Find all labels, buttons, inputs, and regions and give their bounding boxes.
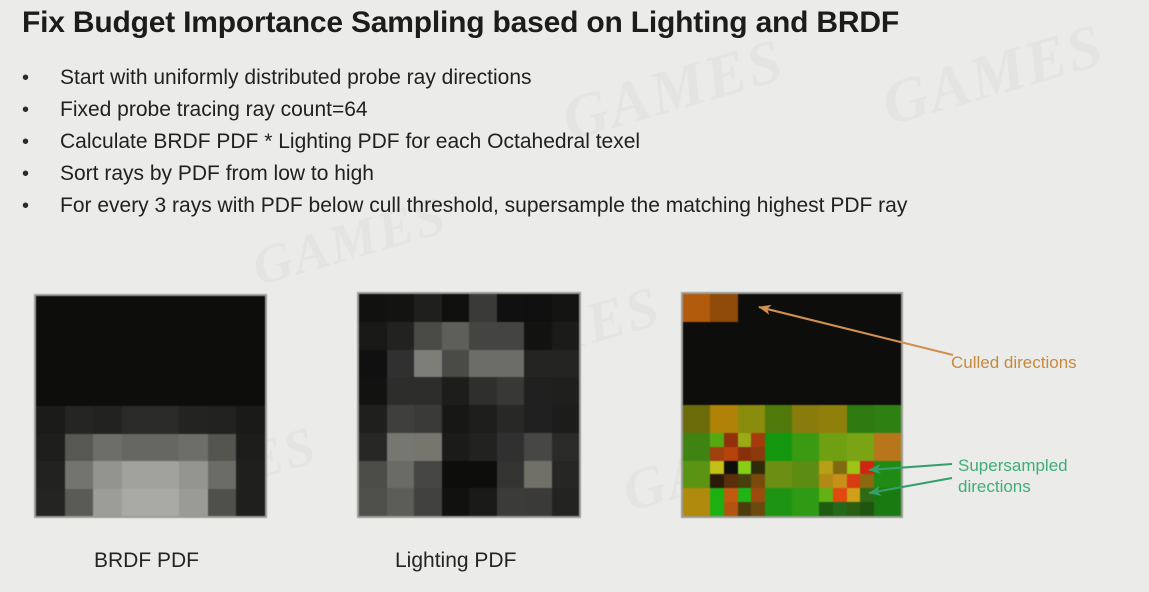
sub-texel [819,488,833,502]
texel [819,377,846,405]
sub-texel [724,474,738,488]
texel [179,324,208,352]
texel [93,296,122,324]
sub-texel [819,474,833,488]
texel [387,488,415,516]
texel [792,322,819,350]
texel [414,461,442,489]
texel [122,379,151,407]
texel [497,350,525,378]
sub-texel [710,488,724,502]
texel [710,405,737,433]
texel [179,406,208,434]
texel [236,489,265,517]
texel [874,322,901,350]
texel [524,294,552,322]
texel [414,433,442,461]
texel [65,324,94,352]
bullet-marker-icon: • [22,63,60,93]
bullet-list: •Start with uniformly distributed probe … [22,63,1142,223]
texel [469,294,497,322]
bullet-item: •Calculate BRDF PDF * Lighting PDF for e… [22,127,1142,159]
texel [359,405,387,433]
texel [65,489,94,517]
sub-texel [860,461,874,475]
texel [552,294,580,322]
texel [469,377,497,405]
texel [792,294,819,322]
texel [442,405,470,433]
texel [874,461,901,489]
texel [442,488,470,516]
sub-texel [738,433,752,447]
texel [469,405,497,433]
texel [442,461,470,489]
sub-texel [833,474,847,488]
bullet-marker-icon: • [22,159,60,189]
texel [36,489,65,517]
texel [819,294,846,322]
texel [524,405,552,433]
texel [765,294,792,322]
texel [122,324,151,352]
texel [208,296,237,324]
texel [874,433,901,461]
texel [65,461,94,489]
texel [236,296,265,324]
bullet-marker-icon: • [22,95,60,125]
supersampled-texel [710,433,737,461]
texel [151,489,180,517]
texel [414,294,442,322]
texel [93,461,122,489]
texel [387,461,415,489]
sub-texel [724,502,738,516]
texel [819,350,846,378]
sub-texel [738,488,752,502]
texel [122,296,151,324]
texel [847,322,874,350]
texel [93,351,122,379]
supersampled-texel [710,488,737,516]
brdf-pdf-texture [34,294,267,518]
sub-texel [710,447,724,461]
sub-texel [738,461,752,475]
supersampled-texel [819,488,846,516]
texel [387,377,415,405]
texel [36,406,65,434]
texel [65,379,94,407]
texel [151,296,180,324]
texel [552,433,580,461]
texel [236,406,265,434]
bullet-item: •Sort rays by PDF from low to high [22,159,1142,191]
supersampled-texel [847,461,874,489]
texel [236,324,265,352]
texel [683,350,710,378]
texel [208,324,237,352]
texel [93,406,122,434]
lighting-pdf-texture [357,292,581,518]
texel [738,350,765,378]
supersampled-directions-label: Supersampled directions [958,455,1068,497]
sub-texel [847,488,861,502]
texel [524,322,552,350]
sub-texel [751,433,765,447]
sub-texel [860,502,874,516]
texel [792,433,819,461]
texel [208,461,237,489]
texel [469,488,497,516]
texel [387,433,415,461]
texel [874,350,901,378]
texel [847,405,874,433]
texel [36,296,65,324]
texel [469,322,497,350]
texel [552,488,580,516]
texel [151,324,180,352]
texel [387,294,415,322]
texel [683,461,710,489]
texel [387,405,415,433]
texel [738,322,765,350]
texel [524,350,552,378]
texel [442,350,470,378]
sub-texel [860,474,874,488]
texel [792,405,819,433]
texel [497,377,525,405]
sub-texel [724,461,738,475]
texel [442,294,470,322]
texel [414,350,442,378]
texel [36,379,65,407]
texel [122,406,151,434]
texel [469,350,497,378]
texel [765,350,792,378]
texel [387,350,415,378]
sub-texel [738,502,752,516]
sub-texel [710,474,724,488]
texel [847,350,874,378]
texel [497,405,525,433]
texel [765,433,792,461]
texel [874,488,901,516]
texel [236,379,265,407]
texel [122,489,151,517]
texel [93,379,122,407]
texel [497,294,525,322]
sub-texel [724,447,738,461]
texel [683,405,710,433]
culled-directions-label: Culled directions [951,352,1077,373]
texel [552,377,580,405]
texel [442,433,470,461]
texel [93,489,122,517]
sub-texel [724,433,738,447]
texel [524,377,552,405]
texel [414,377,442,405]
texel [497,433,525,461]
texel [179,461,208,489]
texel [359,322,387,350]
sub-texel [751,488,765,502]
texel [151,351,180,379]
texel [414,488,442,516]
bullet-item-text: Start with uniformly distributed probe r… [60,63,532,93]
texel [65,351,94,379]
bullet-item: •For every 3 rays with PDF below cull th… [22,191,1142,223]
texel [683,488,710,516]
texel [524,461,552,489]
texel [552,350,580,378]
texel [765,322,792,350]
texel [236,461,265,489]
texel [792,461,819,489]
texel [738,294,765,322]
sub-texel [751,461,765,475]
bullet-item-text: Calculate BRDF PDF * Lighting PDF for ea… [60,127,640,157]
supersampled-texel [738,433,765,461]
sub-texel [710,433,724,447]
texel [65,406,94,434]
texel [524,488,552,516]
texel [469,461,497,489]
texel [122,461,151,489]
sub-texel [710,461,724,475]
texel [359,350,387,378]
texel [497,322,525,350]
texel [179,434,208,462]
brdf-pdf-caption: BRDF PDF [94,549,199,573]
texel [122,351,151,379]
texel [847,433,874,461]
texel [208,379,237,407]
sub-texel [860,488,874,502]
sub-texel [738,447,752,461]
bullet-item-text: Sort rays by PDF from low to high [60,159,374,189]
texel [792,377,819,405]
sub-texel [710,502,724,516]
slide-title: Fix Budget Importance Sampling based on … [22,6,899,40]
texel [236,434,265,462]
sub-texel [738,474,752,488]
texel [765,377,792,405]
texel [552,405,580,433]
texel [179,379,208,407]
texel [179,489,208,517]
texel [847,377,874,405]
texel [122,434,151,462]
sub-texel [751,474,765,488]
texel [359,433,387,461]
texel [36,461,65,489]
texel [65,296,94,324]
texel [552,461,580,489]
texel [208,351,237,379]
texel [442,377,470,405]
texel [151,461,180,489]
texel [36,434,65,462]
texel [151,379,180,407]
result-sampling-texture [681,292,903,518]
texel [683,322,710,350]
texel [819,433,846,461]
supersampled-texel [738,488,765,516]
texel [552,322,580,350]
texel [765,488,792,516]
texel [874,377,901,405]
texel [93,434,122,462]
texel [359,461,387,489]
texel [442,322,470,350]
sub-texel [724,488,738,502]
texel [414,322,442,350]
bullet-marker-icon: • [22,127,60,157]
sub-texel [751,502,765,516]
texel [874,294,901,322]
texel [524,433,552,461]
texel [151,406,180,434]
bullet-item: •Fixed probe tracing ray count=64 [22,95,1142,127]
texel [414,405,442,433]
bullet-marker-icon: • [22,191,60,221]
supersampled-texel [847,488,874,516]
texel [683,433,710,461]
sub-texel [819,502,833,516]
texel [208,489,237,517]
texel [208,406,237,434]
texel [710,294,737,322]
texel [738,377,765,405]
texel [179,296,208,324]
texel [179,351,208,379]
texel [93,324,122,352]
texel [36,351,65,379]
sub-texel [847,461,861,475]
texel [819,405,846,433]
sub-texel [833,461,847,475]
texel [765,405,792,433]
texel [469,433,497,461]
texel [359,488,387,516]
texel [151,434,180,462]
texel [710,350,737,378]
texel [710,377,737,405]
texel [359,377,387,405]
texel [683,377,710,405]
sub-texel [819,461,833,475]
texel [36,324,65,352]
lighting-pdf-caption: Lighting PDF [395,549,516,573]
sub-texel [751,447,765,461]
texel [765,461,792,489]
texel [792,488,819,516]
bullet-item-text: Fixed probe tracing ray count=64 [60,95,368,125]
texel [497,461,525,489]
bullet-item-text: For every 3 rays with PDF below cull thr… [60,191,907,221]
sub-texel [833,502,847,516]
texel [710,322,737,350]
sub-texel [847,502,861,516]
texel [208,434,237,462]
bullet-item: •Start with uniformly distributed probe … [22,63,1142,95]
sub-texel [847,474,861,488]
texel [236,351,265,379]
supersampled-texel [738,461,765,489]
sub-texel [833,488,847,502]
texel [387,322,415,350]
texel [738,405,765,433]
texel [792,350,819,378]
supersampled-texel [710,461,737,489]
texel [819,322,846,350]
texel [683,294,710,322]
supersampled-texel [819,461,846,489]
texel [874,405,901,433]
texel [359,294,387,322]
slide-content: Fix Budget Importance Sampling based on … [0,0,1149,592]
texel [65,434,94,462]
texel [847,294,874,322]
texel [497,488,525,516]
